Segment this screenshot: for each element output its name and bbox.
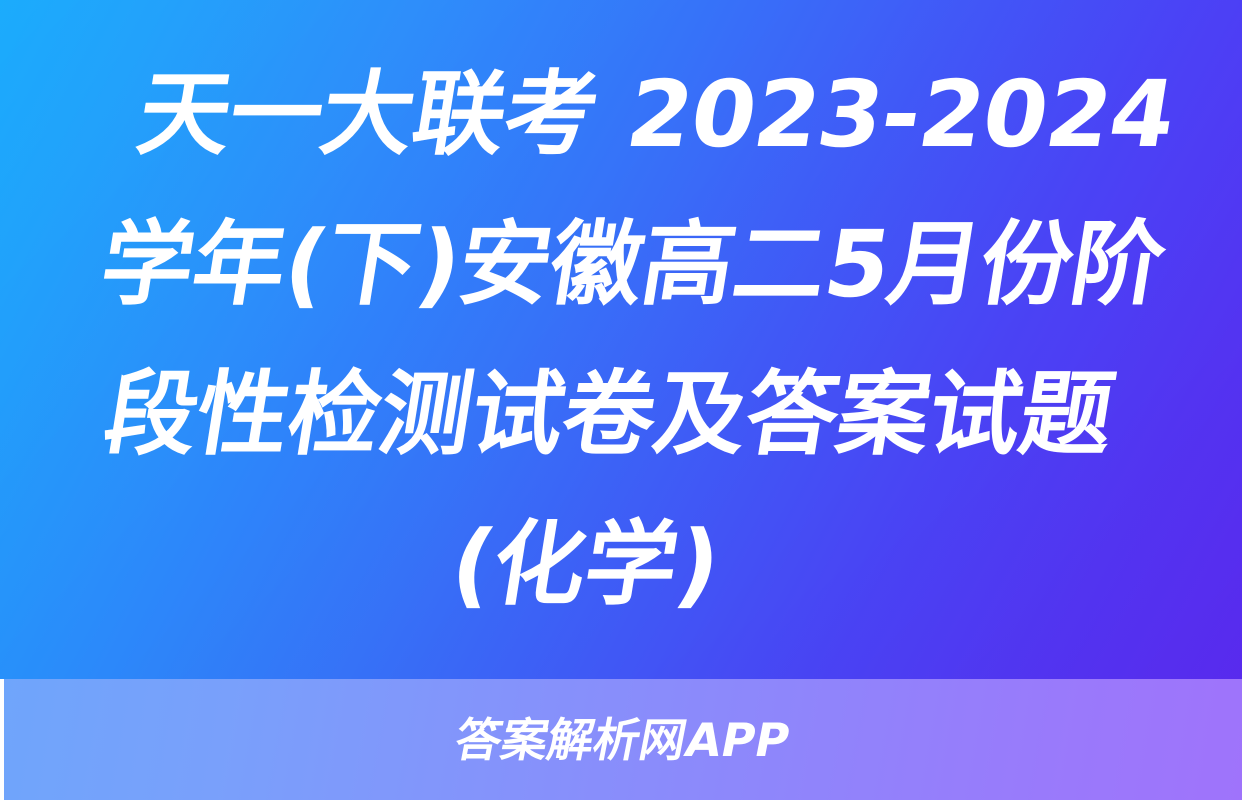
poster-container: 天一大联考 2023-2024学年(下)安徽高二5月份阶段性检测试卷及答案试题(… (0, 0, 1242, 800)
hero-banner: 天一大联考 2023-2024学年(下)安徽高二5月份阶段性检测试卷及答案试题(… (0, 0, 1242, 679)
footer-brand-band: 答案解析网APP (4, 679, 1242, 800)
page-title: 天一大联考 2023-2024学年(下)安徽高二5月份阶段性检测试卷及答案试题(… (33, 40, 1208, 640)
brand-watermark-label: 答案解析网APP (452, 717, 794, 763)
